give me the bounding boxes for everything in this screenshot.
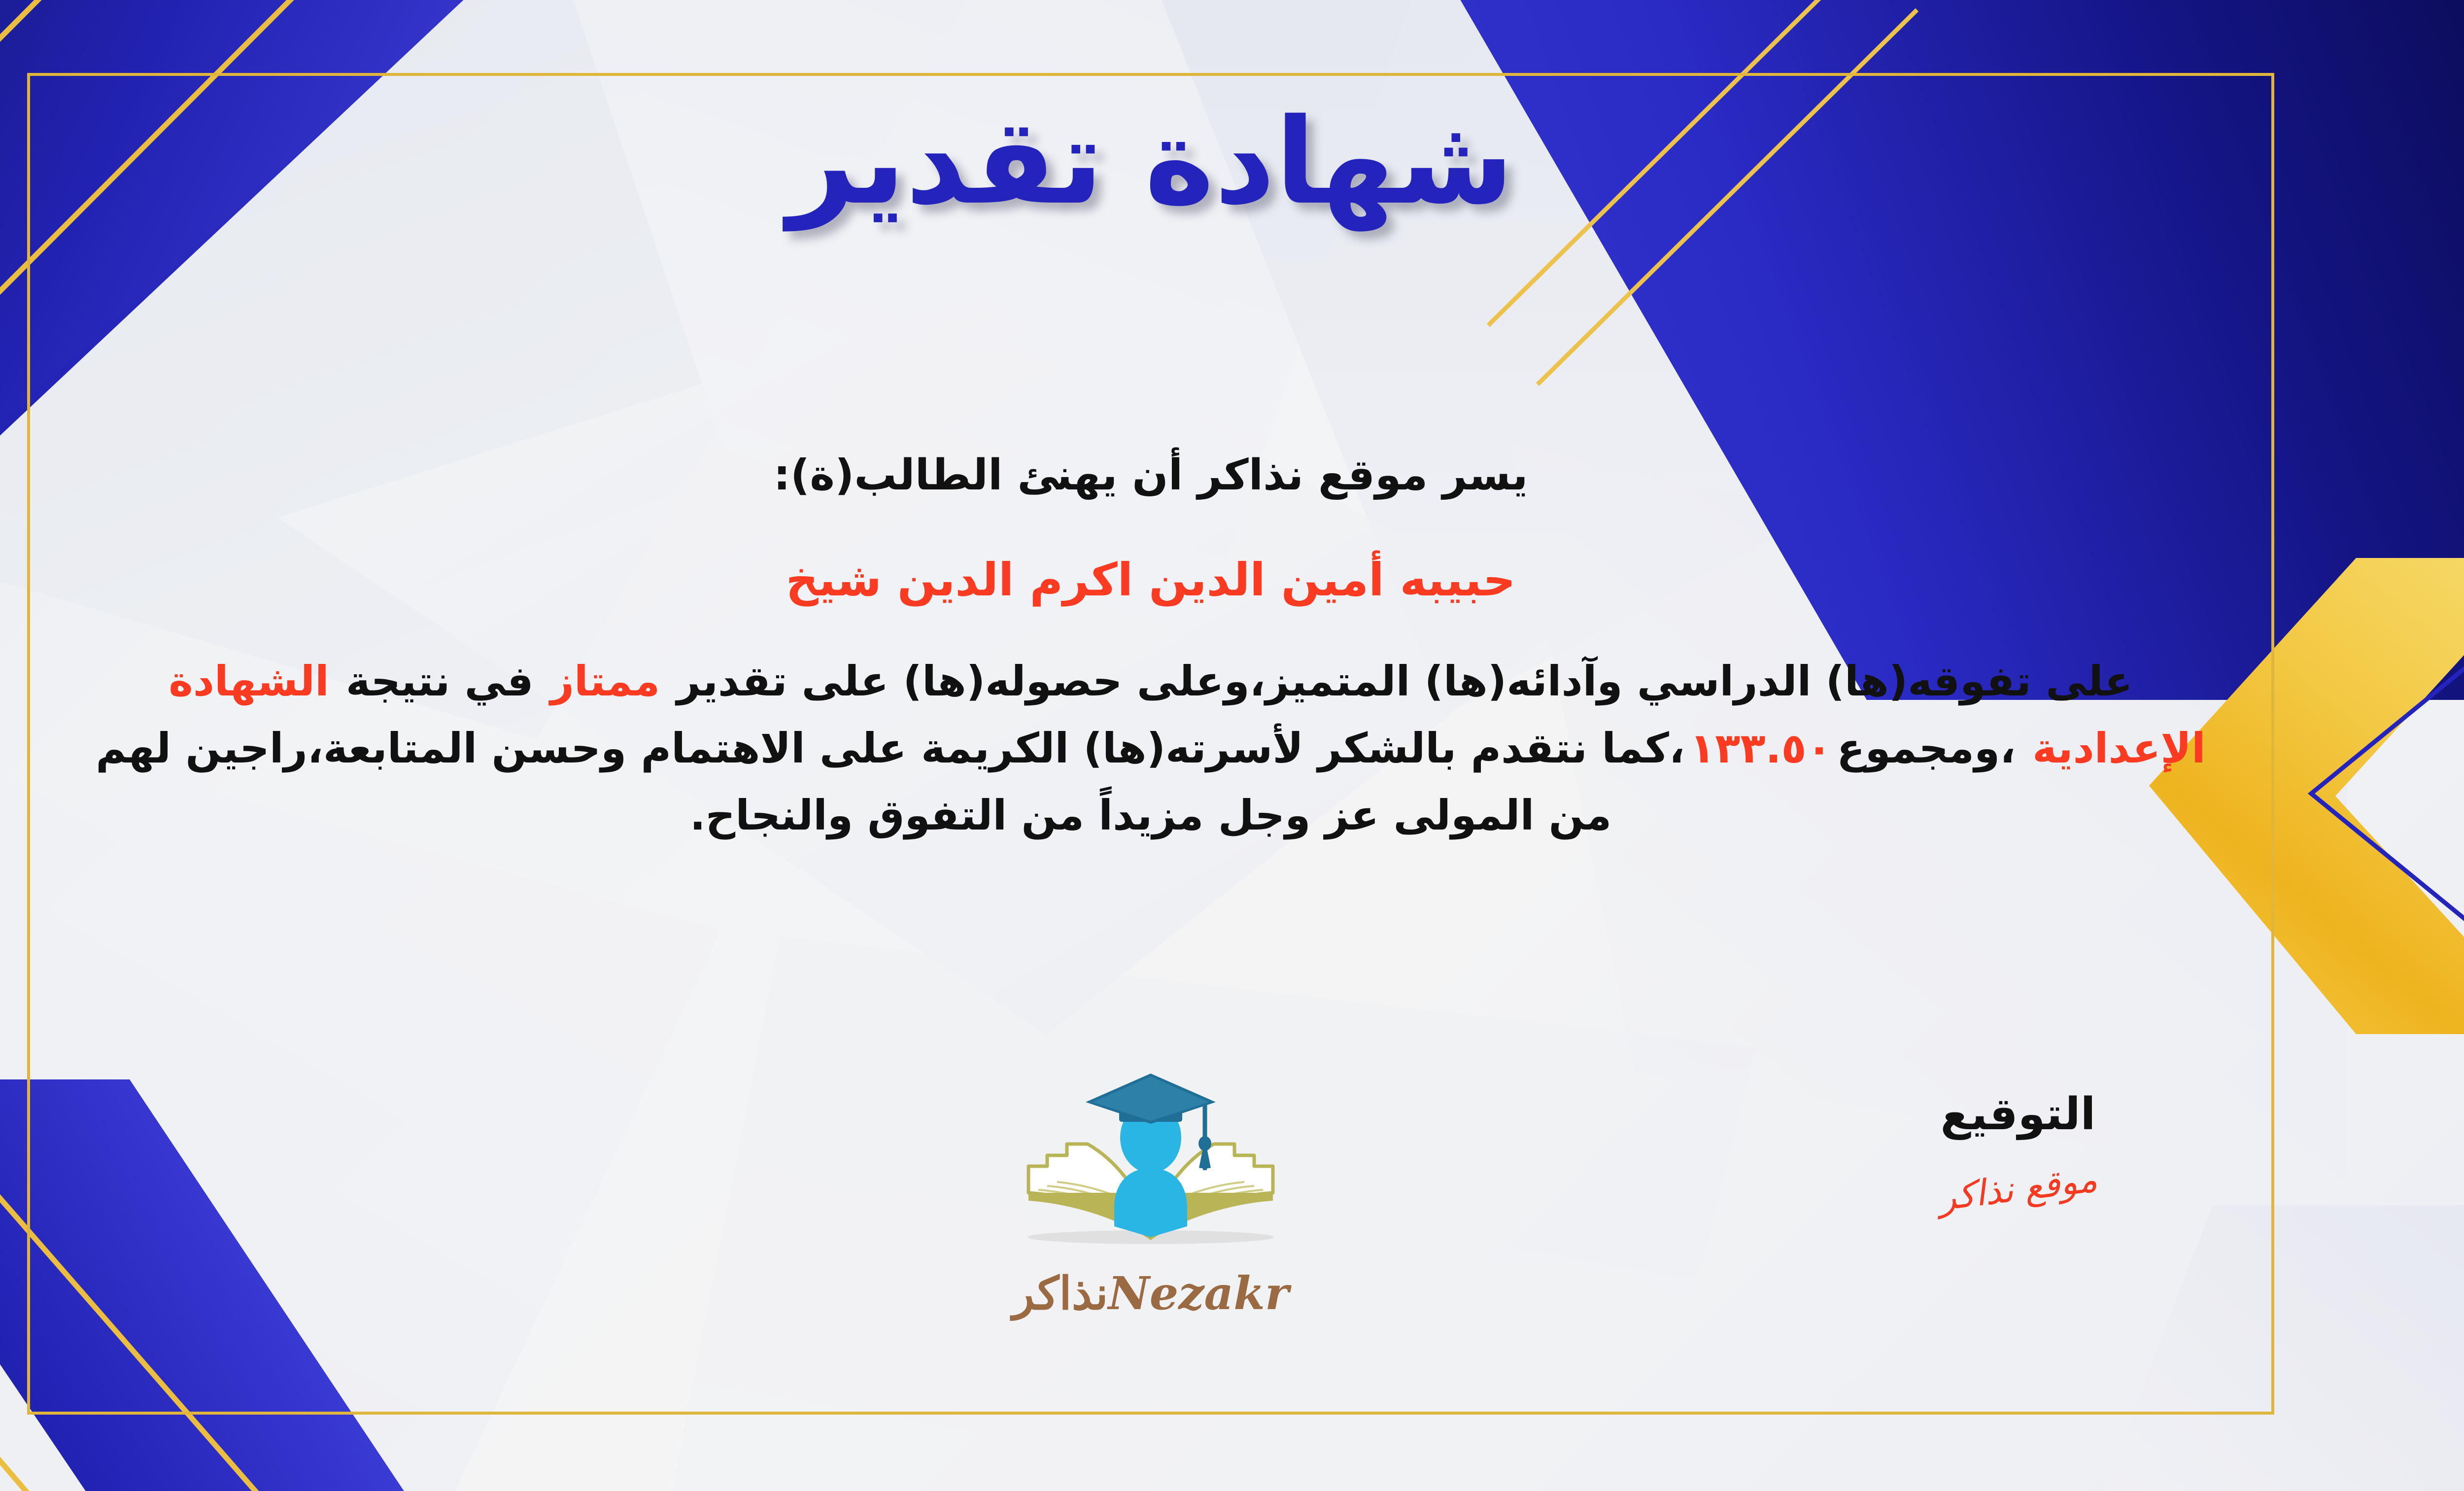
signature-block: التوقيع موقع نذاكر: [1880, 1088, 2156, 1209]
graduation-book-logo-icon: [973, 1064, 1328, 1276]
body-part-1: على تفوقه(ها) الدراسي وآدائه(ها) المتميز…: [677, 657, 2133, 705]
body-part-2: في نتيجة: [346, 657, 534, 705]
certificate-page: شهادة تقدير يسر موقع نذاكر أن يهنئ الطال…: [0, 0, 2464, 1491]
total-score: ١٣٣.٥٠: [1685, 724, 1837, 772]
certificate-title: شهادة تقدير: [27, 88, 2274, 236]
logo-latin-text: Nezakr: [1108, 1267, 1289, 1320]
signature-script: موقع نذاكر: [1936, 1158, 2099, 1219]
body-part-4: ،كما نتقدم بالشكر لأسرته(ها): [1083, 724, 1684, 772]
student-name: حبيبه أمين الدين اكرم الدين شيخ: [71, 554, 2230, 606]
logo-wordmark: Nezakrنذاكر: [973, 1267, 1328, 1320]
body-part-3: ،ومجموع: [1837, 724, 2016, 772]
certificate-content: شهادة تقدير يسر موقع نذاكر أن يهنئ الطال…: [27, 73, 2274, 1415]
signature-label: التوقيع: [1880, 1088, 2156, 1140]
body-part-6: مزيداً من التفوق والنجاح.: [690, 791, 1204, 839]
site-logo: Nezakrنذاكر: [973, 1064, 1328, 1320]
certificate-body: يسر موقع نذاكر أن يهنئ الطالب(ة): حبيبه …: [71, 443, 2230, 891]
intro-line: يسر موقع نذاكر أن يهنئ الطالب(ة):: [71, 443, 2230, 508]
grade-value: ممتاز: [534, 657, 677, 705]
body-paragraph: على تفوقه(ها) الدراسي وآدائه(ها) المتميز…: [71, 648, 2230, 849]
logo-arabic-text: نذاكر: [1013, 1267, 1108, 1320]
